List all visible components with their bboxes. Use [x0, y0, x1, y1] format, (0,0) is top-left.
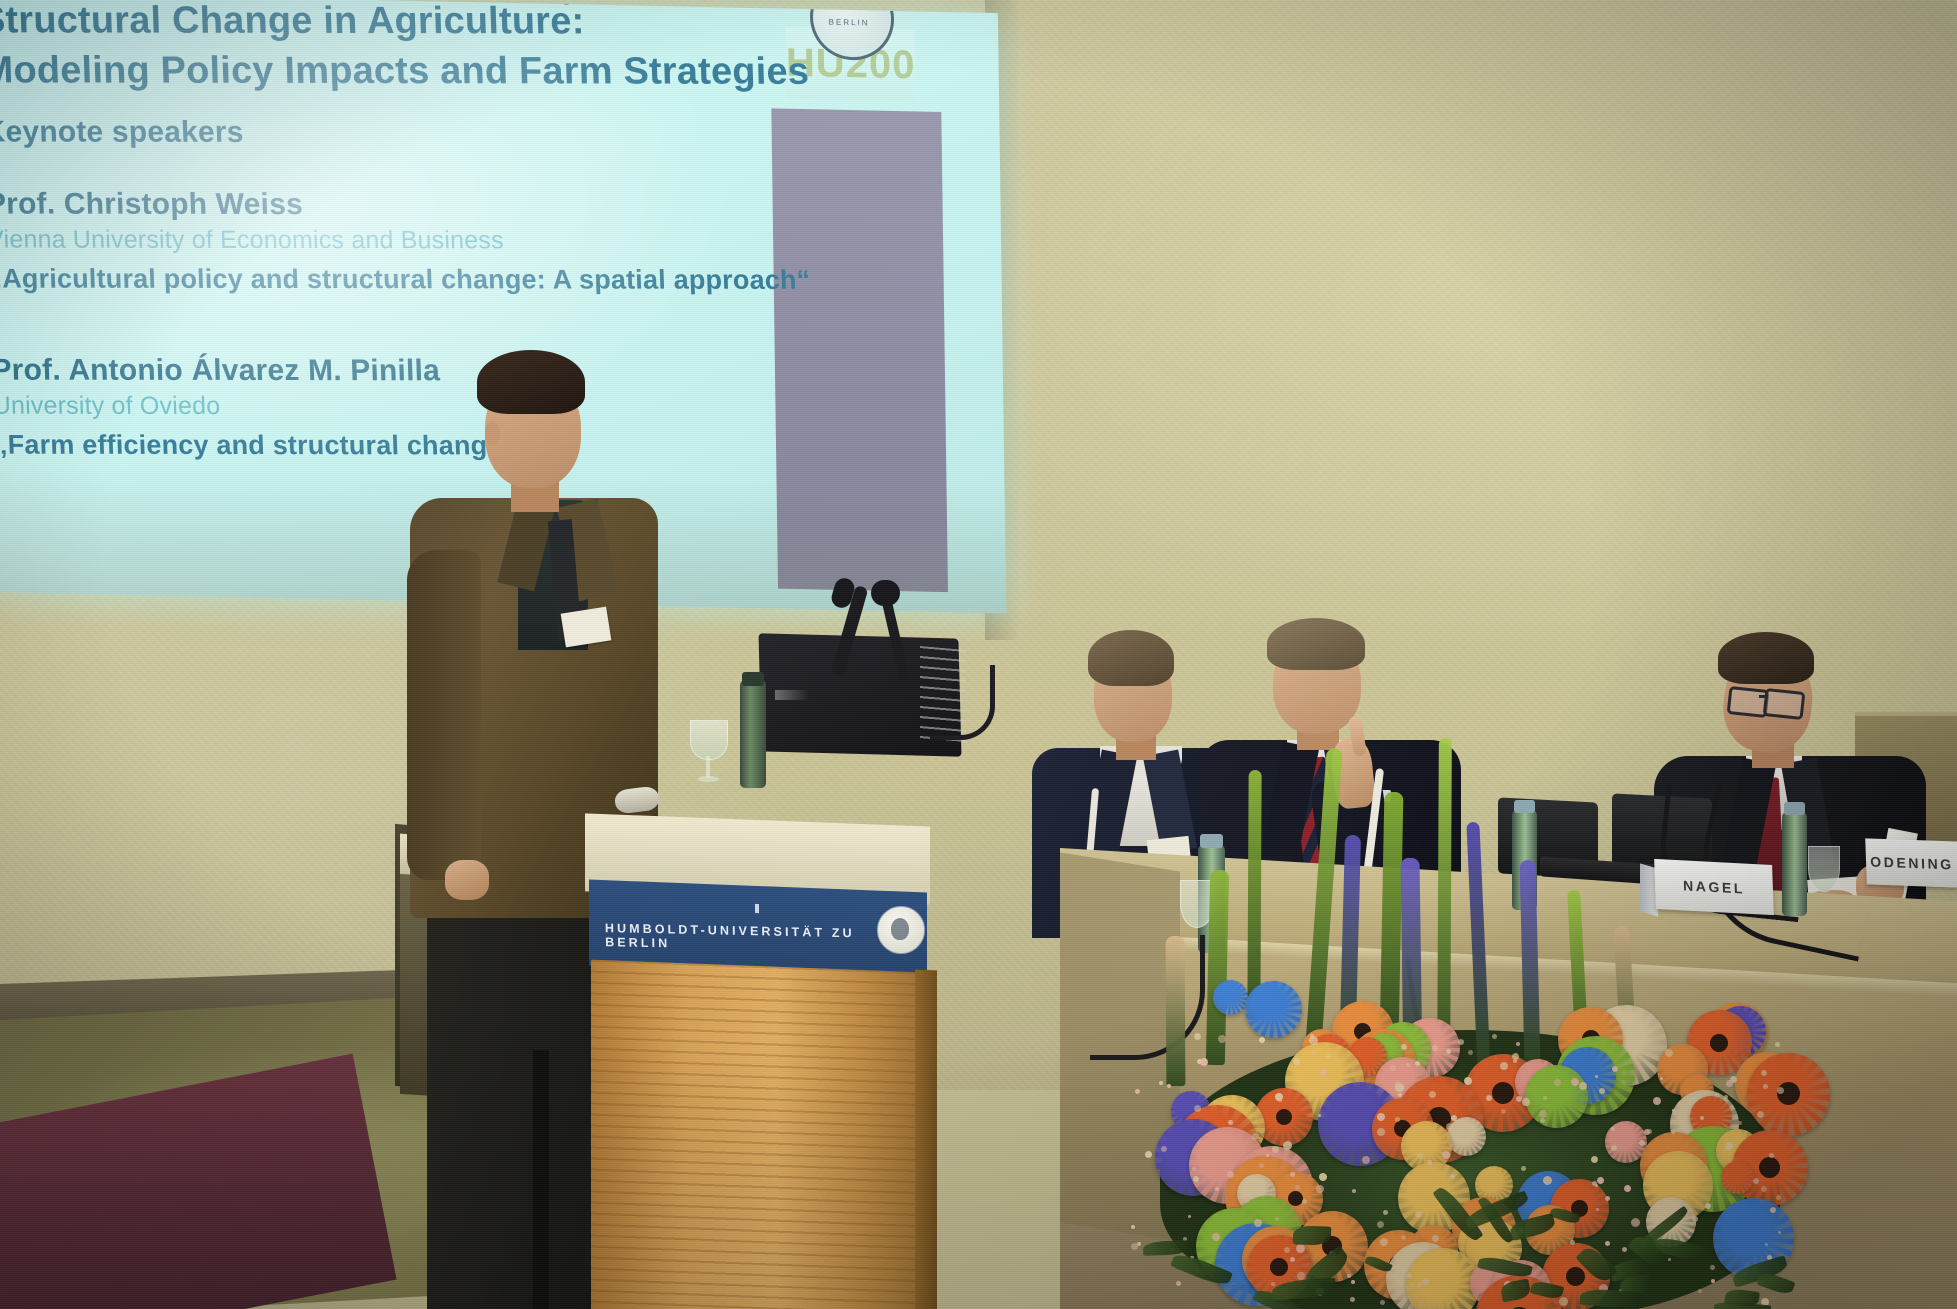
speaker-name-badge — [561, 607, 612, 648]
filler-bloom — [1283, 1141, 1292, 1150]
filler-bloom — [1192, 1167, 1196, 1171]
filler-bloom — [1218, 1035, 1226, 1043]
filler-bloom — [1383, 1210, 1388, 1215]
filler-bloom — [1319, 1173, 1327, 1181]
flower-center — [1566, 1267, 1585, 1286]
filler-bloom — [1176, 1281, 1181, 1286]
filler-bloom — [1559, 1297, 1568, 1306]
filler-bloom — [1698, 1289, 1702, 1293]
filler-bloom — [1278, 1098, 1282, 1102]
filler-bloom — [1415, 1211, 1422, 1218]
lectern-banner-mark — [755, 904, 759, 913]
filler-bloom — [1458, 1039, 1464, 1045]
filler-bloom — [1394, 1081, 1401, 1088]
filler-bloom — [1724, 1095, 1728, 1099]
filler-bloom — [1605, 1196, 1610, 1201]
filler-bloom — [1757, 1111, 1764, 1118]
filler-bloom — [1271, 1282, 1275, 1286]
filler-bloom — [1137, 1242, 1141, 1246]
filler-bloom — [1252, 1133, 1259, 1140]
bottle-cap — [742, 672, 764, 686]
filler-bloom — [1775, 1042, 1780, 1047]
filler-bloom — [1595, 1075, 1598, 1078]
flower-bloom — [1525, 1065, 1588, 1128]
filler-bloom — [1501, 1109, 1506, 1114]
conference-photo: HU200 BERLIN Agriculture Structural Chan… — [0, 0, 1957, 1309]
filler-bloom — [1500, 1062, 1508, 1070]
filler-bloom — [1611, 1145, 1617, 1151]
speaker-hand — [445, 860, 489, 900]
filler-bloom — [1350, 1297, 1355, 1302]
filler-bloom — [1429, 1091, 1436, 1098]
filler-bloom — [1672, 1131, 1675, 1134]
filler-bloom — [1309, 1036, 1318, 1045]
filler-bloom — [1351, 1280, 1355, 1284]
filler-bloom — [1763, 1084, 1768, 1089]
filler-bloom — [1570, 1240, 1575, 1245]
filler-bloom — [1442, 1151, 1450, 1159]
filler-bloom — [1259, 1037, 1265, 1043]
filler-bloom — [1624, 1185, 1631, 1192]
filler-bloom — [1407, 1273, 1412, 1278]
speaker-hair — [477, 350, 585, 414]
flower-spike — [1166, 936, 1186, 1086]
filler-bloom — [1228, 1120, 1233, 1125]
filler-bloom — [1320, 1069, 1327, 1076]
filler-bloom — [1415, 1061, 1420, 1066]
lectern-wood-body — [591, 960, 927, 1309]
flower-center — [1759, 1157, 1780, 1178]
filler-bloom — [1451, 1115, 1457, 1121]
filler-bloom — [1266, 1154, 1269, 1157]
seal-portrait — [891, 918, 909, 940]
filler-bloom — [1726, 1080, 1733, 1087]
filler-bloom — [1622, 1247, 1627, 1252]
filler-bloom — [1326, 1054, 1331, 1059]
filler-bloom — [1665, 1049, 1673, 1057]
filler-bloom — [1612, 1066, 1618, 1072]
filler-bloom — [1543, 1176, 1552, 1185]
filler-bloom — [1591, 1156, 1598, 1163]
filler-bloom — [1446, 1123, 1453, 1130]
filler-bloom — [1406, 1063, 1410, 1067]
filler-bloom — [1296, 1244, 1305, 1253]
filler-bloom — [1468, 1050, 1473, 1055]
nameplate-odening-label: ODENING — [1870, 854, 1954, 873]
filler-bloom — [1705, 1203, 1711, 1209]
filler-bloom — [1711, 1279, 1715, 1283]
filler-bloom — [1417, 1283, 1422, 1288]
water-bottle — [740, 680, 766, 788]
filler-bloom — [1738, 1121, 1742, 1125]
filler-bloom — [1776, 1195, 1781, 1200]
filler-bloom — [1777, 1087, 1784, 1094]
flower-spike — [1305, 748, 1342, 1048]
filler-bloom — [1454, 1124, 1460, 1130]
filler-bloom — [1293, 1058, 1300, 1065]
glass-stem — [706, 756, 710, 778]
microphone-cable — [930, 665, 995, 740]
flower-spike — [1380, 792, 1404, 1042]
wine-glass — [690, 720, 726, 784]
filler-bloom — [1312, 1051, 1316, 1055]
filler-bloom — [1390, 1065, 1396, 1071]
filler-bloom — [1377, 1128, 1385, 1136]
filler-bloom — [1275, 1217, 1279, 1221]
filler-bloom — [1290, 1172, 1295, 1177]
filler-bloom — [1513, 1059, 1517, 1063]
filler-bloom — [1377, 1113, 1385, 1121]
filler-bloom — [1377, 1221, 1384, 1228]
filler-bloom — [1422, 1278, 1429, 1285]
flower-bloom — [1245, 981, 1302, 1038]
filler-bloom — [1644, 1129, 1650, 1135]
filler-bloom — [1516, 1042, 1520, 1046]
filler-bloom — [1595, 1184, 1598, 1187]
filler-bloom — [1672, 1109, 1675, 1112]
filler-bloom — [1579, 1082, 1587, 1090]
filler-bloom — [1599, 1088, 1605, 1094]
filler-bloom — [1770, 1207, 1776, 1213]
filler-bloom — [1212, 1233, 1220, 1241]
filler-bloom — [1159, 1081, 1163, 1085]
filler-bloom — [1259, 1163, 1264, 1168]
filler-bloom — [1753, 1178, 1759, 1184]
filler-bloom — [1290, 1257, 1295, 1262]
filler-bloom — [1244, 1197, 1250, 1203]
filler-bloom — [1571, 1078, 1579, 1086]
filler-bloom — [1710, 1265, 1715, 1270]
filler-bloom — [1700, 1116, 1704, 1120]
panelist-left-hair — [1088, 630, 1174, 686]
filler-bloom — [1188, 1215, 1191, 1218]
panelist-right-hair — [1718, 632, 1814, 684]
glass-bowl — [690, 720, 728, 760]
filler-bloom — [1395, 1117, 1400, 1122]
filler-bloom — [1401, 1235, 1406, 1240]
filler-bloom — [1302, 1199, 1307, 1204]
eyeglasses-lens-right — [1763, 688, 1806, 720]
monitor-logo — [775, 690, 809, 700]
flower-spike — [1247, 770, 1261, 1020]
filler-bloom — [1540, 1118, 1545, 1123]
filler-bloom — [1660, 1077, 1663, 1080]
lectern-banner-text: HUMBOLDT-UNIVERSITÄT ZU BERLIN — [605, 921, 885, 955]
filler-bloom — [1362, 1156, 1370, 1164]
filler-bloom — [1543, 1096, 1547, 1100]
filler-bloom — [1272, 1146, 1279, 1153]
flower-center — [1288, 1191, 1303, 1206]
filler-bloom — [1539, 1110, 1547, 1118]
filler-bloom — [1284, 1247, 1290, 1253]
flower-bloom — [1213, 980, 1248, 1015]
filler-bloom — [1464, 1077, 1472, 1085]
flower-bloom — [1447, 1117, 1486, 1156]
filler-bloom — [1194, 1033, 1201, 1040]
filler-bloom — [1611, 1127, 1615, 1131]
eyeglasses-bridge — [1759, 695, 1768, 698]
filler-bloom — [1410, 1283, 1414, 1287]
nameplate-odening: ODENING — [1865, 838, 1957, 887]
filler-bloom — [1474, 1143, 1477, 1146]
filler-bloom — [1193, 1176, 1199, 1182]
flower-arrangement — [1120, 730, 1820, 1309]
filler-bloom — [1254, 1219, 1262, 1227]
filler-bloom — [1295, 1185, 1300, 1190]
filler-bloom — [1597, 1177, 1604, 1184]
flower-center — [1710, 1034, 1728, 1052]
lectern-wood-edge — [915, 970, 937, 1309]
filler-bloom — [1605, 1241, 1610, 1246]
filler-bloom — [1639, 1140, 1645, 1146]
filler-bloom — [1145, 1151, 1152, 1158]
filler-bloom — [1297, 1272, 1305, 1280]
lectern: HUMBOLDT-UNIVERSITÄT ZU BERLIN — [585, 820, 930, 1309]
flower-center — [1276, 1109, 1292, 1125]
filler-bloom — [1486, 1095, 1492, 1101]
filler-bloom — [1450, 1174, 1455, 1179]
filler-bloom — [1215, 1187, 1219, 1191]
filler-bloom — [1194, 1105, 1201, 1112]
filler-bloom — [1668, 1258, 1671, 1261]
filler-bloom — [1468, 1120, 1472, 1124]
filler-bloom — [1398, 1093, 1402, 1097]
filler-bloom — [1522, 1098, 1530, 1106]
flower-spike — [1206, 870, 1229, 1065]
filler-bloom — [1761, 1186, 1767, 1192]
filler-bloom — [1596, 1208, 1599, 1211]
filler-bloom — [1347, 1274, 1351, 1278]
filler-bloom — [1765, 1243, 1768, 1246]
filler-bloom — [1761, 1070, 1767, 1076]
flower-center — [1492, 1082, 1514, 1104]
filler-bloom — [1554, 1079, 1561, 1086]
filler-bloom — [1167, 1084, 1171, 1088]
filler-bloom — [1432, 1045, 1438, 1051]
filler-bloom — [1653, 1097, 1661, 1105]
filler-bloom — [1380, 1238, 1388, 1246]
filler-bloom — [1679, 1102, 1684, 1107]
flower-center — [1270, 1258, 1288, 1276]
speaker-ear — [485, 422, 500, 446]
filler-bloom — [1769, 1153, 1774, 1158]
filler-bloom — [1318, 1114, 1321, 1117]
filler-bloom — [1316, 1185, 1324, 1193]
filler-bloom — [1352, 1189, 1356, 1193]
filler-bloom — [1684, 1232, 1688, 1236]
filler-bloom — [1725, 1142, 1733, 1150]
speaker-leg-separation — [533, 1050, 549, 1309]
filler-bloom — [1778, 1231, 1781, 1234]
filler-bloom — [1631, 1218, 1640, 1227]
filler-bloom — [1492, 1034, 1497, 1039]
filler-bloom — [1161, 1146, 1167, 1152]
filler-bloom — [1417, 1153, 1423, 1159]
filler-bloom — [1432, 1235, 1439, 1242]
filler-bloom — [1227, 1171, 1234, 1178]
speaker-left-arm — [407, 550, 481, 880]
panelist-center-hair — [1267, 618, 1365, 670]
filler-bloom — [1692, 1216, 1698, 1222]
filler-bloom — [1200, 1058, 1208, 1066]
filler-bloom — [1521, 1166, 1526, 1171]
glass-foot — [698, 776, 719, 782]
filler-bloom — [1380, 1300, 1385, 1305]
filler-bloom — [1446, 1049, 1451, 1054]
filler-bloom — [1427, 1160, 1432, 1165]
filler-bloom — [1401, 1044, 1407, 1050]
filler-bloom — [1131, 1225, 1135, 1229]
microphone-head-icon — [871, 580, 900, 606]
filler-bloom — [1135, 1089, 1140, 1094]
flower-bloom — [1721, 1161, 1754, 1194]
